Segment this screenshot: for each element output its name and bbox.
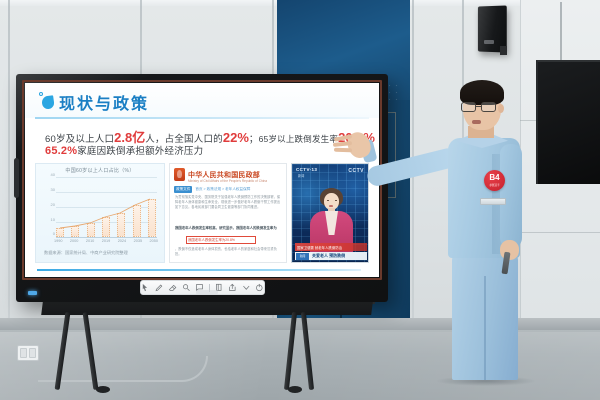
channel-logo-left: CCTV-13 xyxy=(296,167,317,172)
slide-footer-rule xyxy=(37,269,361,271)
x-tick: 1990 xyxy=(54,239,62,243)
y-tick: 30 xyxy=(51,188,55,192)
badge-caption: 参赛选手 xyxy=(489,183,499,187)
display-side-button[interactable] xyxy=(14,158,19,198)
chevron-down-icon[interactable] xyxy=(242,283,251,292)
chart-x-labels: 1990 2000 2010 2019 2024 2035 2050 xyxy=(54,239,158,243)
chart-y-axis: 40 30 20 10 0 xyxy=(42,175,56,237)
gov-paragraph: 为贯彻落实党中央、国务院关于加强老年人跌倒预防工作的决策部署，保障老年人身体健康… xyxy=(175,195,283,209)
power-outlet[interactable] xyxy=(17,345,39,361)
slide-stat-line-2: 65.2%家庭因跌倒承担额外经济压力 xyxy=(45,143,203,157)
chart-source-note: 数据来源：国家统计局、中商产业研究院整理 xyxy=(44,250,128,256)
gov-site-name: 中华人民共和国民政部 xyxy=(188,170,260,180)
channel-sublabel: 新闻 xyxy=(298,173,304,178)
gov-site-name-en: Ministry of Civil Affairs of the People'… xyxy=(188,179,267,183)
y-tick: 20 xyxy=(51,203,55,207)
export-icon[interactable] xyxy=(228,283,237,292)
slide-title: 现状与政策 xyxy=(59,90,149,114)
eyeglasses xyxy=(461,102,501,112)
news-ticker: 新闻 关爱老人 预防跌倒 xyxy=(295,252,367,260)
display-screen[interactable]: 现状与政策 60岁及以上人口2.8亿人，占全国人口的22%；65岁以上跌倒发生率… xyxy=(25,83,379,277)
contestant-badge: B4 参赛选手 xyxy=(484,170,505,191)
presenter: B4 参赛选手 xyxy=(400,80,550,400)
presenter-mouth xyxy=(472,120,481,124)
cursor-icon[interactable] xyxy=(141,283,150,292)
chart-plot-area xyxy=(56,177,156,237)
scene-root: 现状与政策 60岁及以上人口2.8亿人，占全国人口的22%；65岁以上跌倒发生率… xyxy=(0,0,600,400)
anchor-mouth xyxy=(329,205,333,207)
wall-tv-cable xyxy=(560,2,562,62)
news-ticker-chip: 新闻 xyxy=(296,253,309,260)
stat-highlight-share: 22% xyxy=(223,130,249,145)
eraser-icon[interactable] xyxy=(168,283,177,292)
chart-card: 中国60岁以上人口占比（%） 40 30 20 10 0 xyxy=(35,163,165,263)
national-emblem-icon xyxy=(174,168,185,181)
droplet-icon xyxy=(39,92,54,109)
chart-trendline xyxy=(56,177,156,237)
channel-logo-right: CCTV xyxy=(348,168,364,174)
chart-axis-line xyxy=(56,237,157,238)
trouser-seam xyxy=(484,276,486,380)
chart-title: 中国60岁以上人口占比（%） xyxy=(36,167,164,174)
stand-caster xyxy=(96,386,110,393)
speaker-bracket xyxy=(500,46,507,55)
stat-highlight-burden: 65.2% xyxy=(45,145,77,157)
x-tick: 2000 xyxy=(70,239,78,243)
y-tick: 0 xyxy=(53,232,55,236)
presenter-left-arm xyxy=(500,144,522,248)
magnifier-icon[interactable] xyxy=(182,283,191,292)
x-tick: 2035 xyxy=(134,239,142,243)
x-tick: 2050 xyxy=(150,239,158,243)
stand-shelf xyxy=(41,302,373,315)
stat-seg: 65岁以上跌倒发生率 xyxy=(259,134,338,144)
breadcrumb: 首页 > 政策法规 > 老年人权益保障 xyxy=(195,187,250,192)
y-tick: 10 xyxy=(51,218,55,222)
news-broadcast-screenshot: CCTV-13 新闻 CCTV 国家卫健委 就老年人跌倒防治 新闻 关爱老人 预… xyxy=(291,163,369,263)
presentation-slide: 现状与政策 60岁及以上人口2.8亿人，占全国人口的22%；65岁以上跌倒发生率… xyxy=(25,83,379,277)
news-lower-third-text: 国家卫健委 就老年人跌倒防治 xyxy=(297,245,342,250)
display-power-led xyxy=(28,291,37,295)
gov-tail-text: ，跌倒不仅造成老年人身体损伤，也给老年人的家庭和社会带来沉重负担。 xyxy=(175,247,283,257)
x-tick: 2010 xyxy=(86,239,94,243)
x-tick: 2019 xyxy=(102,239,110,243)
wall-seam xyxy=(8,0,10,330)
display-brand-logo xyxy=(196,290,218,294)
stand-caster xyxy=(288,386,302,393)
name-tag xyxy=(480,198,506,205)
stat-seg: 家庭因跌倒承担额外经济压力 xyxy=(77,146,203,157)
speaker-brand-label xyxy=(484,40,494,44)
gov-highlight-text: 我国老年人跌倒发生率为20.8% xyxy=(188,237,235,242)
x-tick: 2024 xyxy=(118,239,126,243)
finger xyxy=(334,148,352,153)
pen-icon[interactable] xyxy=(155,283,164,292)
badge-number: B4 xyxy=(489,174,499,182)
power-icon[interactable] xyxy=(255,283,264,292)
gov-bold-line: 我国老年人跌倒发生率较高，研究显示，我国老年人的跌倒发生率为 xyxy=(175,226,283,231)
gov-tag: 政策文件 xyxy=(174,186,192,193)
news-ticker-text: 关爱老人 预防跌倒 xyxy=(312,253,345,259)
slide-header-rule xyxy=(35,117,369,119)
gov-breadcrumb-row: 政策文件 首页 > 政策法规 > 老年人权益保障 xyxy=(174,186,250,193)
y-tick: 40 xyxy=(51,173,55,177)
government-site-screenshot: 中华人民共和国民政部 Ministry of Civil Affairs of … xyxy=(169,163,287,263)
stat-seg: ； xyxy=(249,134,259,145)
